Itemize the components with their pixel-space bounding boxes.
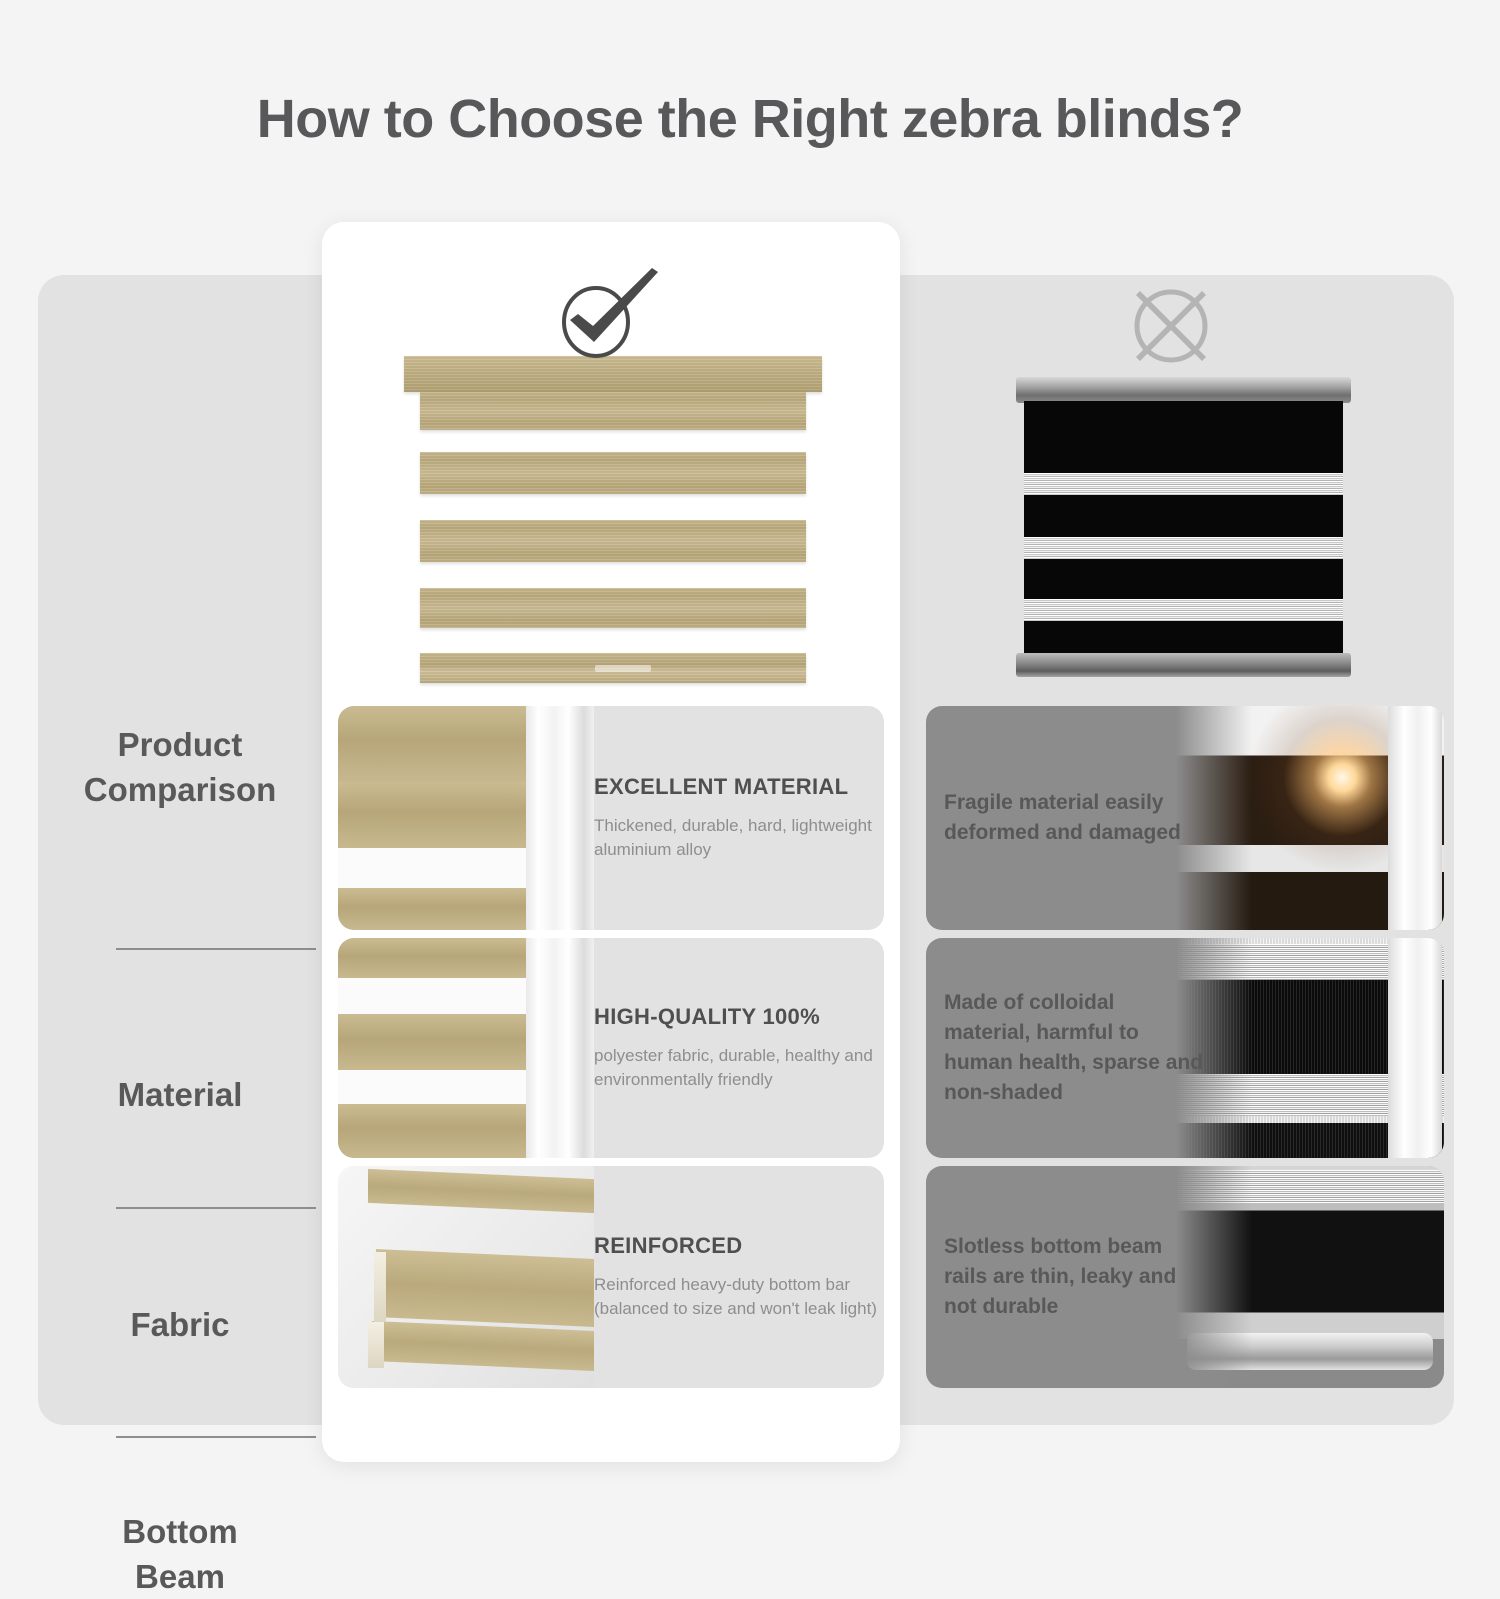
row-label-material: Material: [38, 1073, 322, 1118]
bad-feature-image-bottom-beam: [1176, 1166, 1444, 1388]
row-label-line2: Beam: [135, 1558, 225, 1595]
good-feature-image-bottom-beam: [338, 1166, 594, 1388]
bad-feature-card-fabric: Made of colloidal material, harmful to h…: [926, 938, 1444, 1158]
good-feature-title: EXCELLENT MATERIAL: [594, 774, 884, 800]
cross-circle-icon: [1128, 283, 1214, 369]
row-label-column: Product Comparison Material Fabric Botto…: [38, 275, 322, 1425]
bad-feature-card-material: Fragile material easily deformed and dam…: [926, 706, 1444, 930]
bad-feature-image-material: [1176, 706, 1444, 930]
row-divider-3: [116, 1436, 316, 1438]
good-feature-card-fabric: HIGH-QUALITY 100% polyester fabric, dura…: [338, 938, 884, 1158]
row-label-fabric: Fabric: [38, 1303, 322, 1348]
row-label-line1: Fabric: [130, 1306, 229, 1343]
check-circle-icon: [548, 268, 668, 360]
bad-feature-text: Made of colloidal material, harmful to h…: [944, 938, 1206, 1158]
good-feature-image-fabric: [338, 938, 594, 1158]
row-label-line1: Material: [118, 1076, 243, 1113]
good-feature-title: REINFORCED: [594, 1233, 884, 1259]
row-label-product-comparison: Product Comparison: [38, 723, 322, 812]
bad-feature-text: Fragile material easily deformed and dam…: [944, 706, 1206, 930]
row-label-line1: Bottom: [122, 1513, 237, 1550]
row-divider-1: [116, 948, 316, 950]
bad-feature-text: Slotless bottom beam rails are thin, lea…: [944, 1166, 1206, 1388]
row-label-line2: Comparison: [84, 771, 277, 808]
row-label-line1: Product: [118, 726, 243, 763]
good-feature-card-material: EXCELLENT MATERIAL Thickened, durable, h…: [338, 706, 884, 930]
page-title: How to Choose the Right zebra blinds?: [0, 88, 1500, 150]
good-feature-body: Reinforced heavy-duty bottom bar (balanc…: [594, 1273, 884, 1321]
row-divider-2: [116, 1207, 316, 1209]
good-feature-body: Thickened, durable, hard, lightweight al…: [594, 814, 884, 862]
good-feature-image-material: [338, 706, 594, 930]
bad-feature-card-bottom-beam: Slotless bottom beam rails are thin, lea…: [926, 1166, 1444, 1388]
good-hero-blind-image: [404, 356, 822, 696]
good-feature-body: polyester fabric, durable, healthy and e…: [594, 1044, 884, 1092]
good-feature-title: HIGH-QUALITY 100%: [594, 1004, 884, 1030]
bad-hero-blind-image: [1016, 377, 1351, 677]
bad-feature-image-fabric: [1176, 938, 1444, 1158]
good-feature-card-bottom-beam: REINFORCED Reinforced heavy-duty bottom …: [338, 1166, 884, 1388]
row-label-bottom-beam: Bottom Beam: [38, 1510, 322, 1599]
